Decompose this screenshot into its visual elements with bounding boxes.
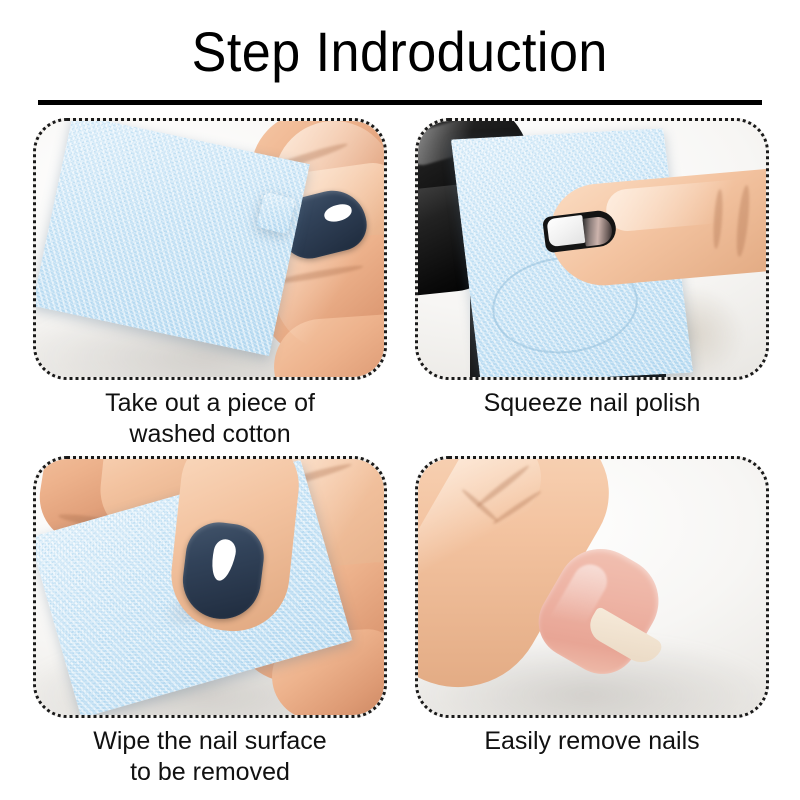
page-title-area: Step Indroduction [0,0,800,104]
step-caption-1: Take out a piece of washed cotton [33,388,387,450]
step-caption-2: Squeeze nail polish [415,388,769,419]
step-caption-4: Easily remove nails [415,726,769,757]
step-card-1: Take out a piece of washed cotton [33,118,387,450]
white-nail [546,215,585,247]
photo-wipe-nail-surface [33,456,387,718]
photo-take-out-cotton [33,118,387,380]
step-caption-3: Wipe the nail surface to be removed [33,726,387,788]
step-card-3: Wipe the nail surface to be removed [33,456,387,788]
step-card-2: Squeeze nail polish [415,118,769,419]
step-card-4: Easily remove nails [415,456,769,757]
photo-squeeze-nail-polish [415,118,769,380]
step-introduction-poster: Step Indroduction [0,0,800,800]
photo-easily-remove-nails [415,456,769,718]
steps-grid: Take out a piece of washed cotton [0,118,800,800]
title-divider [38,100,762,105]
page-title: Step Indroduction [192,23,608,81]
